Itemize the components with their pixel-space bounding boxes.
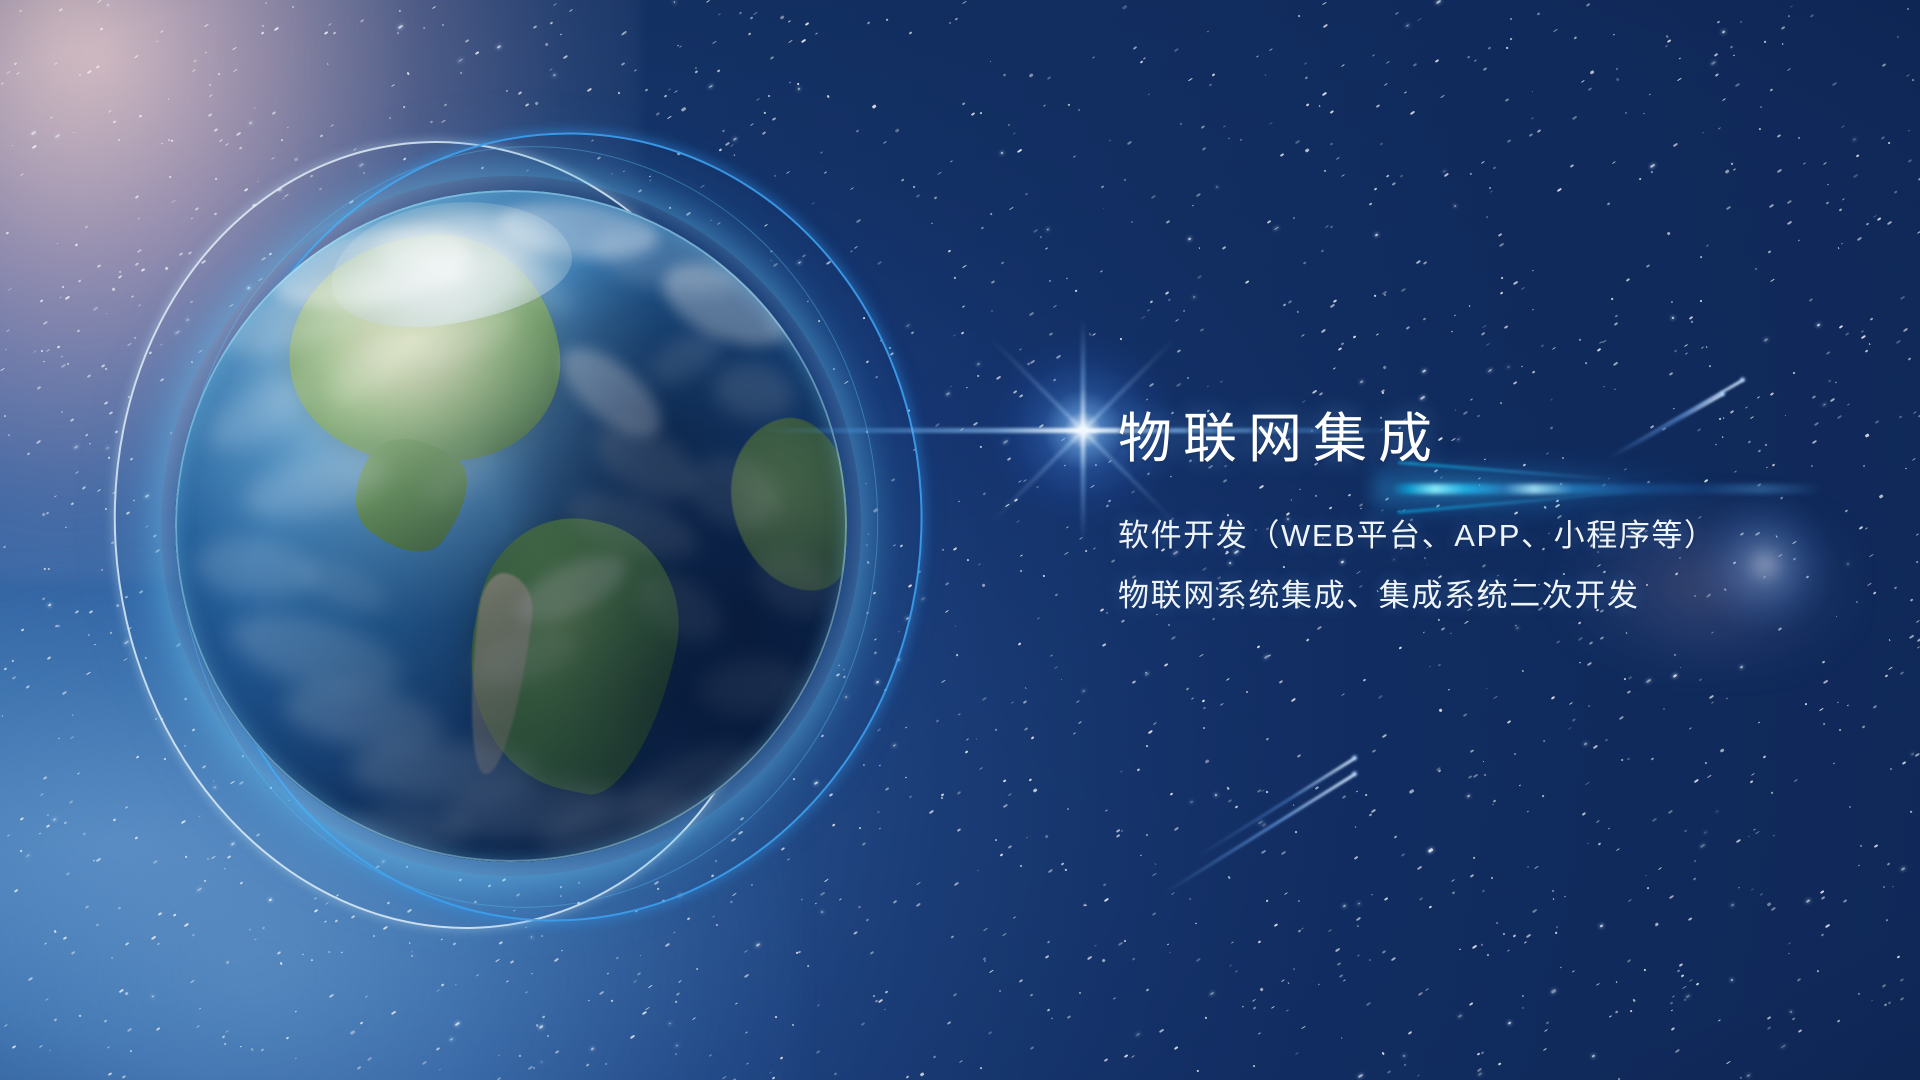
- vignette-overlay: [0, 0, 1920, 1080]
- banner-canvas: 物联网集成 软件开发（WEB平台、APP、小程序等） 物联网系统集成、集成系统二…: [0, 0, 1920, 1080]
